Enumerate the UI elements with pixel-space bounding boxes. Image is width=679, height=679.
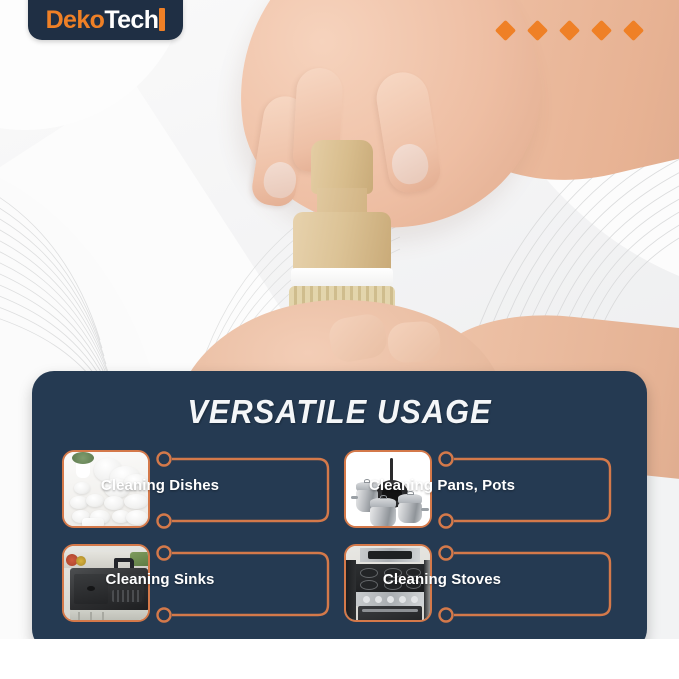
diamond-icon	[559, 20, 580, 41]
finger	[387, 320, 442, 364]
connector-node-icon	[440, 453, 453, 466]
feature-item[interactable]: Cleaning Dishes	[62, 447, 340, 539]
hero-product-image	[0, 0, 679, 390]
diamond-icon	[527, 20, 548, 41]
bottom-white-band	[0, 639, 679, 679]
page-title: VERSATILE USAGE	[54, 393, 626, 431]
connector-node-icon	[440, 515, 453, 528]
brush-knob	[311, 140, 373, 194]
feature-label: Cleaning Dishes	[76, 477, 244, 494]
feature-item[interactable]: Cleaning Stoves	[344, 541, 622, 633]
connector-node-icon	[158, 609, 171, 622]
feature-item[interactable]: Cleaning Pans, Pots	[344, 447, 622, 539]
feature-grid: Cleaning Dishes	[62, 447, 618, 633]
orange-bar-icon	[159, 8, 165, 31]
diamond-icon	[591, 20, 612, 41]
brand-logo-text: DekoTech	[46, 8, 166, 33]
brand-logo-deko: Deko	[46, 6, 105, 34]
versatile-usage-panel: VERSATILE USAGE	[32, 371, 647, 651]
connector-node-icon	[158, 547, 171, 560]
feature-item[interactable]: Cleaning Sinks	[62, 541, 340, 633]
diamond-decoration-row	[498, 23, 641, 38]
connector-node-icon	[158, 453, 171, 466]
feature-label: Cleaning Pans, Pots	[358, 477, 526, 494]
connector-node-icon	[158, 515, 171, 528]
brush-white-ring	[291, 268, 393, 288]
brand-logo[interactable]: DekoTech	[28, 0, 183, 40]
feature-label: Cleaning Sinks	[76, 571, 244, 588]
brand-logo-tech: Tech	[104, 6, 158, 34]
connector-node-icon	[440, 547, 453, 560]
feature-label: Cleaning Stoves	[358, 571, 526, 588]
product-infographic: DekoTech VERSATILE USAGE	[0, 0, 679, 679]
brush-body	[293, 212, 391, 274]
diamond-icon	[495, 20, 516, 41]
diamond-icon	[623, 20, 644, 41]
connector-node-icon	[440, 609, 453, 622]
